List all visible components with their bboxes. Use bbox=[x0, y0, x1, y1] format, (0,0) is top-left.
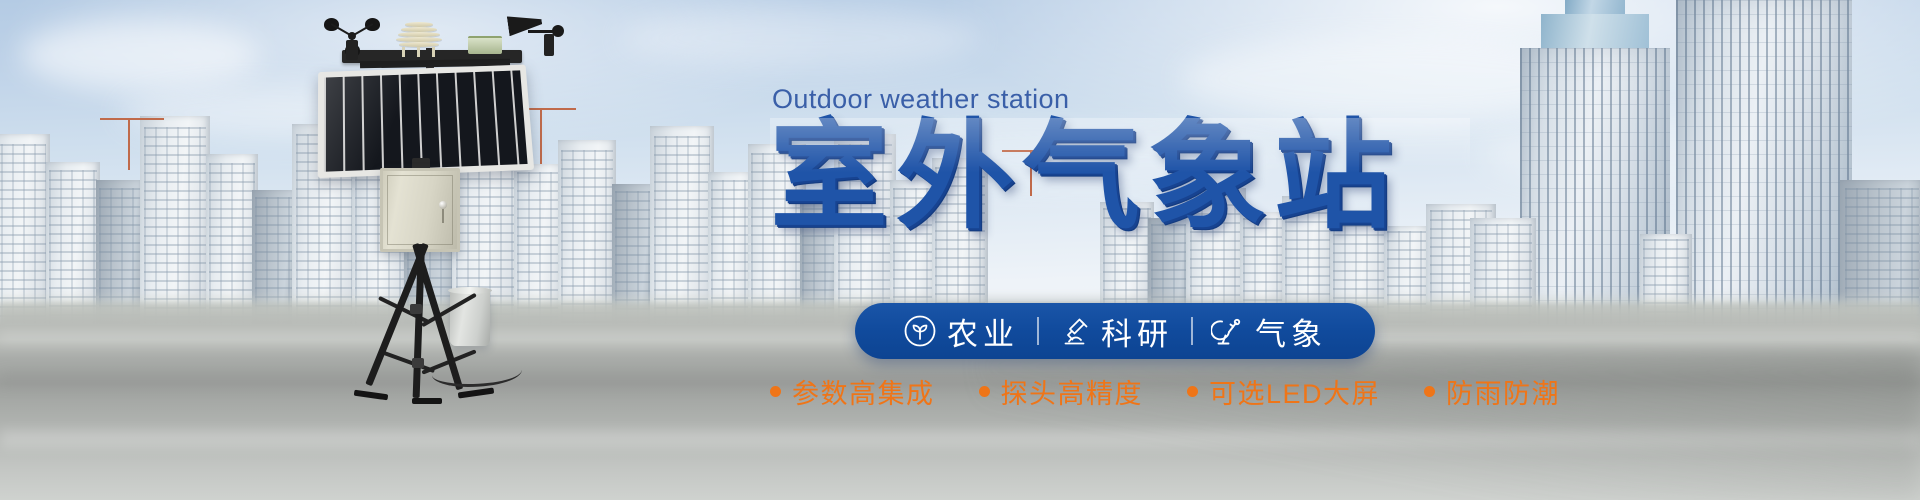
category-research[interactable]: 科研 bbox=[1039, 309, 1191, 354]
category-label: 农业 bbox=[947, 309, 1019, 354]
banner-title: 室外气象站 bbox=[770, 118, 1400, 236]
feature-label: 探头高精度 bbox=[1001, 372, 1144, 411]
category-label: 气象 bbox=[1255, 309, 1327, 354]
category-pill: 农业 科研 bbox=[855, 303, 1375, 359]
feature-item: 参数高集成 bbox=[770, 372, 935, 411]
feature-item: 可选LED大屏 bbox=[1187, 372, 1380, 411]
feature-item: 探头高精度 bbox=[979, 372, 1144, 411]
category-meteorology[interactable]: 气象 bbox=[1193, 309, 1345, 354]
feature-label: 防雨防潮 bbox=[1446, 372, 1560, 411]
feature-label: 可选LED大屏 bbox=[1209, 372, 1380, 411]
category-agriculture[interactable]: 农业 bbox=[885, 309, 1037, 354]
feature-label: 参数高集成 bbox=[792, 372, 935, 411]
bullet-dot-icon bbox=[979, 386, 990, 397]
bullet-dot-icon bbox=[1424, 386, 1435, 397]
product-hero-banner: Outdoor weather station 室外气象站 农业 bbox=[0, 0, 1920, 500]
bullet-dot-icon bbox=[1187, 386, 1198, 397]
category-label: 科研 bbox=[1101, 309, 1173, 354]
microscope-icon bbox=[1057, 314, 1091, 348]
banner-copy: Outdoor weather station 室外气象站 农业 bbox=[0, 0, 1920, 500]
bullet-dot-icon bbox=[770, 386, 781, 397]
feature-item: 防雨防潮 bbox=[1424, 372, 1560, 411]
leaf-sprout-icon bbox=[903, 314, 937, 348]
feature-list: 参数高集成 探头高精度 可选LED大屏 防雨防潮 bbox=[770, 372, 1560, 411]
satellite-dish-icon bbox=[1211, 314, 1245, 348]
